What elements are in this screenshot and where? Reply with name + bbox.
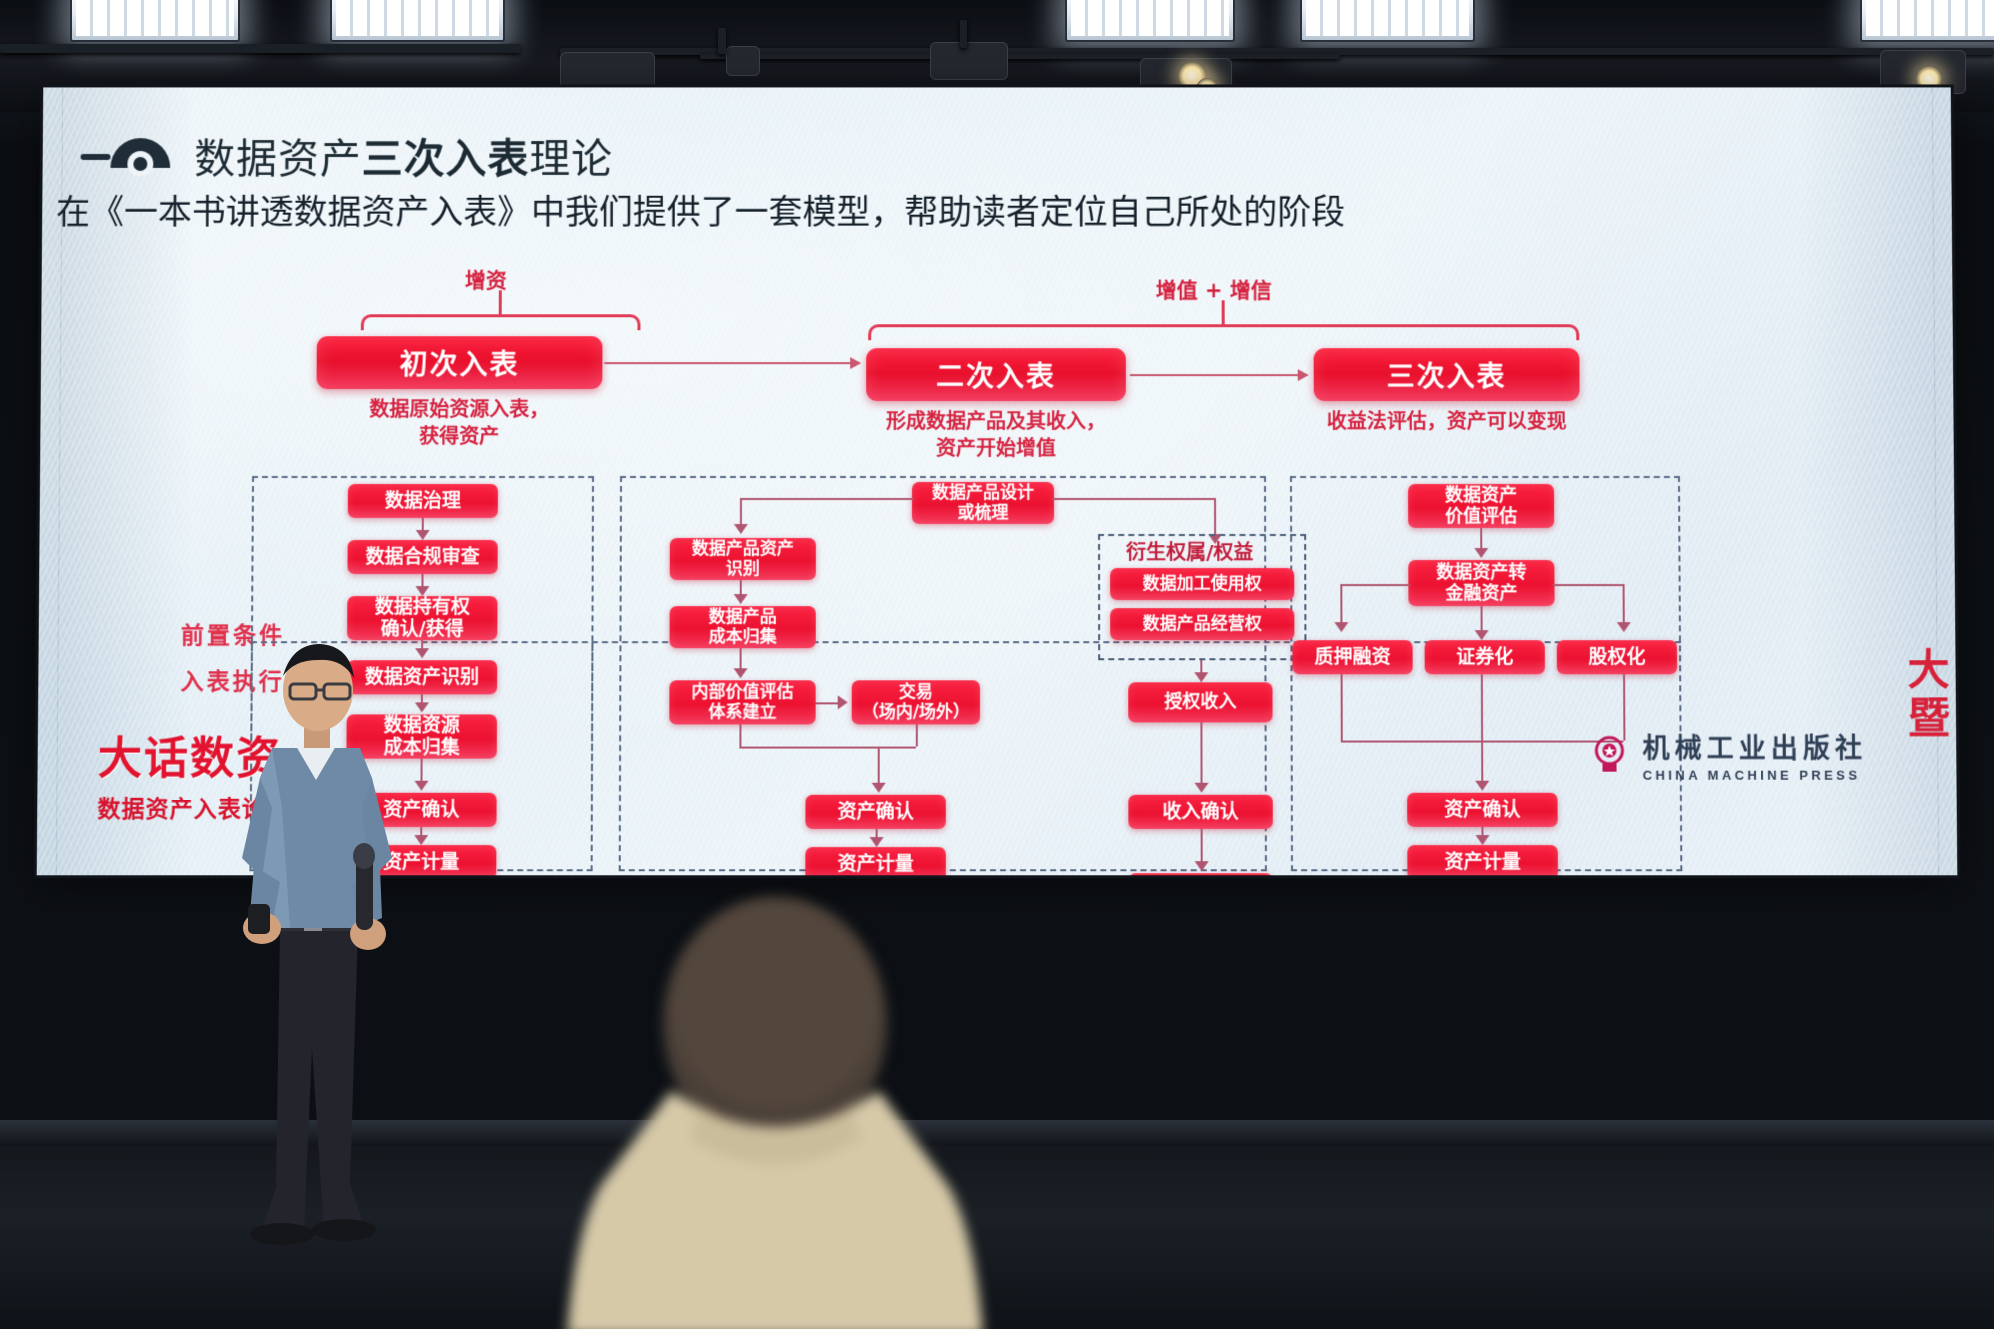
ceiling-panel-light xyxy=(1860,0,1994,42)
link-line xyxy=(1553,584,1625,586)
node-c3-m1[interactable]: 质押融资 xyxy=(1292,640,1412,674)
node-c3-m3[interactable]: 股权化 xyxy=(1557,640,1677,674)
arrow-down-icon xyxy=(1195,861,1209,871)
slide-subtitle: 在《一本书讲透数据资产入表》中我们提供了一套模型，帮助读者定位自己所处的阶段 xyxy=(56,185,1345,234)
node-label: 数据产品设计 或梳理 xyxy=(932,483,1034,523)
node-c1-p1[interactable]: 数据治理 xyxy=(348,484,498,518)
presenter-figure xyxy=(232,628,422,1258)
stage-caption-1: 数据原始资源入表，获得资产 xyxy=(316,396,602,450)
arrow-down-icon xyxy=(1475,835,1489,845)
link-line xyxy=(1623,584,1625,626)
arrow-down-icon xyxy=(734,668,748,678)
audience-member-figure xyxy=(505,895,1045,1329)
stage-box-1[interactable]: 初次入表 xyxy=(317,336,603,389)
page-title: 数据资产三次入表理论 xyxy=(194,125,613,185)
rig-drop-rod xyxy=(960,20,967,48)
link-line xyxy=(878,747,880,785)
node-c1-p2[interactable]: 数据合规审查 xyxy=(347,540,497,574)
arrow-down-icon xyxy=(872,783,886,793)
node-c2-l1[interactable]: 数据产品资产 识别 xyxy=(670,538,816,580)
node-c2-l2[interactable]: 数据产品 成本归集 xyxy=(670,606,816,648)
link-line xyxy=(816,702,840,704)
node-label: 交易 （场内/场外） xyxy=(862,682,970,722)
node-label: 数据产品 成本归集 xyxy=(709,607,777,647)
stage-box-2[interactable]: 二次入表 xyxy=(866,348,1126,401)
publisher-name-cn: 机械工业出版社 xyxy=(1642,726,1867,765)
node-c2-e1[interactable]: 资产确认 xyxy=(805,795,945,829)
arrow-right-icon xyxy=(838,695,848,709)
ceiling-truss xyxy=(0,44,520,53)
node-c2-r2[interactable]: 收入记录 xyxy=(1128,873,1273,875)
node-label: 内部价值评估 体系建立 xyxy=(691,682,793,722)
arrow-down-icon xyxy=(416,530,430,540)
node-c2-l3[interactable]: 内部价值评估 体系建立 xyxy=(669,680,815,724)
link-line xyxy=(1052,498,1216,500)
arrow-down-icon xyxy=(1194,672,1208,682)
slide-title-row: 数据资产三次入表理论 xyxy=(80,125,613,185)
arrow-down-icon xyxy=(870,837,884,847)
brace-stage23 xyxy=(868,324,1579,340)
stage-box-3[interactable]: 三次入表 xyxy=(1314,348,1580,401)
arrow-down-icon xyxy=(1475,781,1489,791)
brace-label-stage1: 增资 xyxy=(465,264,507,294)
link-line xyxy=(740,498,914,500)
link-line xyxy=(1200,722,1202,784)
arrow-down-icon xyxy=(734,524,748,534)
ceiling-panel-light xyxy=(330,0,505,42)
link-line xyxy=(739,747,877,749)
node-c3-top[interactable]: 数据资产 价值评估 xyxy=(1408,484,1554,528)
node-c3-m2[interactable]: 证券化 xyxy=(1425,640,1545,674)
ceiling-panel-light xyxy=(70,0,240,42)
link-line xyxy=(1214,498,1216,536)
stage-arrow-2-3 xyxy=(1130,374,1308,376)
publisher-text-block: 机械工业出版社 CHINA MACHINE PRESS xyxy=(1642,726,1867,782)
link-line xyxy=(1340,584,1342,626)
stage-caption-2: 形成数据产品及其收入，资产开始增值 xyxy=(846,408,1146,462)
group-derived-rights-title: 衍生权属/权益 xyxy=(1126,536,1253,565)
ceiling-panel-light xyxy=(1300,0,1475,42)
arrow-down-icon xyxy=(1334,622,1348,632)
node-c2-r1[interactable]: 收入确认 xyxy=(1128,795,1272,829)
brace-label-stage23: 增值 + 增信 xyxy=(1156,274,1272,304)
node-label: 数据产品资产 识别 xyxy=(692,539,794,579)
node-c2-e2[interactable]: 资产计量 xyxy=(805,847,946,875)
arrow-down-icon xyxy=(1617,622,1631,632)
side-brand-text: 大 暨 xyxy=(1907,646,1950,743)
node-c3-e1[interactable]: 资产确认 xyxy=(1407,793,1558,827)
press-emblem-icon xyxy=(1588,734,1630,776)
node-c2-auth-income[interactable]: 授权收入 xyxy=(1128,682,1272,722)
node-c3-second[interactable]: 数据资产转 金融资产 xyxy=(1408,560,1554,606)
link-line xyxy=(878,747,916,749)
stage-spotlight xyxy=(726,46,760,76)
stage-arrow-1-2 xyxy=(604,362,860,364)
eye-logo-icon xyxy=(80,134,172,176)
arrow-down-icon xyxy=(1195,783,1209,793)
arrow-down-icon xyxy=(415,586,429,596)
arrow-down-icon xyxy=(1475,630,1489,640)
stage-caption-3: 收益法评估，资产可以变现 xyxy=(1262,408,1632,435)
node-c2-trade[interactable]: 交易 （场内/场外） xyxy=(852,680,980,724)
ceiling-truss xyxy=(700,54,1340,59)
link-line xyxy=(1340,584,1410,586)
node-c2-right-1[interactable]: 数据加工使用权 xyxy=(1110,568,1294,600)
node-c3-e2[interactable]: 资产计量 xyxy=(1407,845,1558,875)
ceiling-panel-light xyxy=(1065,0,1235,42)
node-label: 数据资产转 金融资产 xyxy=(1436,562,1526,605)
link-line xyxy=(740,498,742,526)
link-line xyxy=(739,724,741,746)
node-c2-right-2[interactable]: 数据产品经营权 xyxy=(1110,608,1294,640)
rig-drop-rod xyxy=(718,28,726,54)
arrow-down-icon xyxy=(1474,548,1488,558)
link-line xyxy=(916,724,918,746)
link-line xyxy=(1201,829,1203,865)
publisher-name-en: CHINA MACHINE PRESS xyxy=(1643,768,1868,783)
link-line xyxy=(1341,674,1343,740)
arrow-down-icon xyxy=(734,594,748,604)
stage-spotlight xyxy=(930,42,1008,80)
publisher-logo: 机械工业出版社 CHINA MACHINE PRESS xyxy=(1588,726,1867,782)
brace-stage1 xyxy=(361,314,641,330)
node-c2-top[interactable]: 数据产品设计 或梳理 xyxy=(912,482,1054,524)
node-label: 数据资产 价值评估 xyxy=(1445,485,1517,527)
